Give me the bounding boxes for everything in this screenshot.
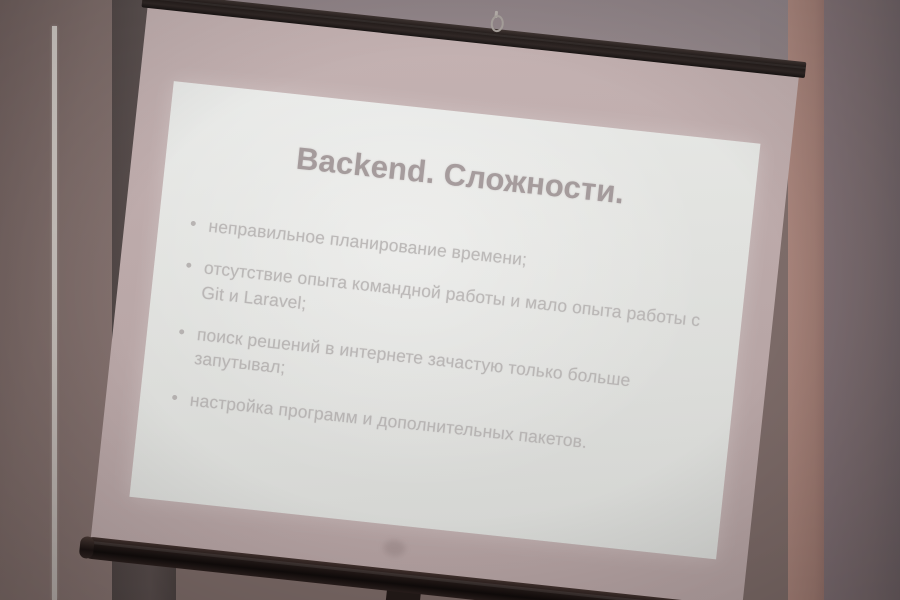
hook-icon [489,10,502,30]
bullet-dot-icon [191,221,197,227]
projected-slide: Backend. Сложности. неправильное планиро… [129,81,760,559]
slide-bullet-list: неправильное планирование времени; отсут… [169,212,719,484]
slide-title: Backend. Сложности. [165,127,755,225]
bullet-dot-icon [179,329,185,335]
bullet-dot-icon [186,262,192,268]
right-wall-cool-band [824,0,900,600]
projector-screen: Backend. Сложности. неправильное планиро… [85,0,801,600]
wall-light-strip [52,26,57,600]
presentation-photo-scene: Backend. Сложности. неправильное планиро… [0,0,900,600]
bullet-dot-icon [172,395,178,401]
